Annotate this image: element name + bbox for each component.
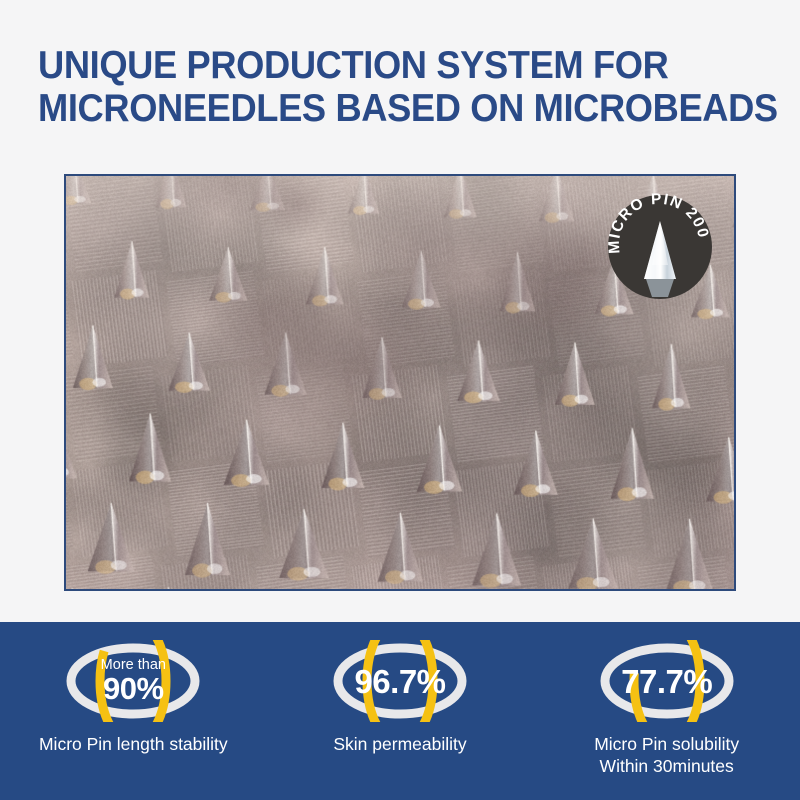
micro-pin-200-badge: MICRO PIN 200 (606, 193, 714, 301)
stat-micro-pin-solubility: 77.7% Micro Pin solubility Within 30minu… (533, 622, 800, 800)
stat-3-label: Micro Pin solubility Within 30minutes (594, 733, 739, 777)
stat-2-ring: 96.7% (326, 640, 474, 722)
stat-3-ring: 77.7% (593, 640, 741, 722)
stat-skin-permeability: 96.7% Skin permeability (267, 622, 534, 800)
stat-3-value: 77.7% (621, 665, 712, 698)
stat-1-label: Micro Pin length stability (39, 733, 228, 755)
stat-3-label-line-2: Within 30minutes (594, 755, 739, 777)
stat-1-ring: More than 90% (59, 640, 207, 722)
stat-1-ring-text: More than 90% (59, 640, 207, 722)
statistics-band: More than 90% Micro Pin length stability… (0, 622, 800, 800)
statistics-row: More than 90% Micro Pin length stability… (0, 622, 800, 800)
badge-graphic: MICRO PIN 200 (606, 193, 714, 301)
page-title: UNIQUE PRODUCTION SYSTEM FOR MICRONEEDLE… (38, 44, 778, 130)
page-title-line-2: MICRONEEDLES BASED ON MICROBEADS (38, 87, 726, 130)
stat-2-ring-text: 96.7% (326, 640, 474, 722)
stat-2-label-line-1: Skin permeability (333, 733, 466, 755)
stat-micro-pin-length-stability: More than 90% Micro Pin length stability (0, 622, 267, 800)
stat-1-label-line-1: Micro Pin length stability (39, 733, 228, 755)
stat-1-prefix: More than (101, 658, 166, 673)
stat-2-value: 96.7% (354, 665, 445, 698)
stat-1-value: 90% (103, 673, 164, 704)
stat-3-label-line-1: Micro Pin solubility (594, 733, 739, 755)
stat-2-label: Skin permeability (333, 733, 466, 755)
stat-3-ring-text: 77.7% (593, 640, 741, 722)
page-title-line-1: UNIQUE PRODUCTION SYSTEM FOR (38, 44, 726, 87)
